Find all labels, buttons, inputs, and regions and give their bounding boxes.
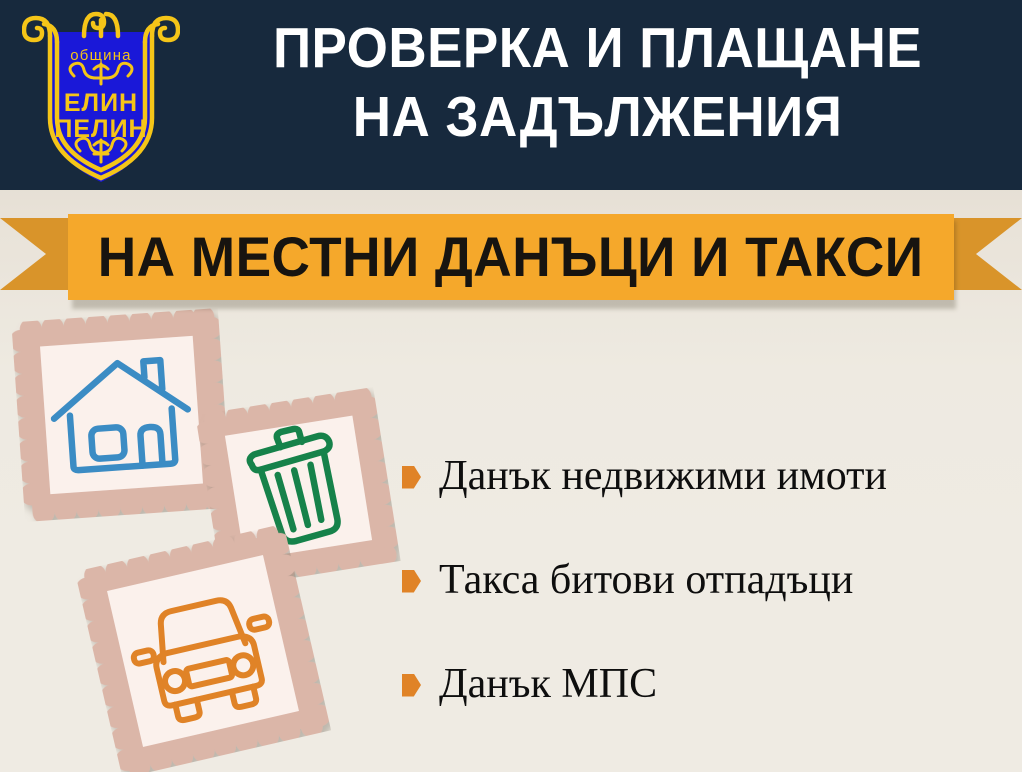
list-item[interactable]: Данък недвижими имоти xyxy=(402,424,1012,528)
list-item-label: Данък недвижими имоти xyxy=(439,453,887,499)
ribbon-main-panel: НА МЕСТНИ ДАНЪЦИ И ТАКСИ xyxy=(68,214,954,300)
page-title-line-1: ПРОВЕРКА И ПЛАЩАНЕ xyxy=(214,14,981,83)
list-item-label: Данък МПС xyxy=(439,661,657,707)
list-item[interactable]: Данък МПС xyxy=(402,632,1012,736)
page-title: ПРОВЕРКА И ПЛАЩАНЕ НА ЗАДЪЛЖЕНИЯ xyxy=(214,14,981,152)
ribbon-label: НА МЕСТНИ ДАНЪЦИ И ТАКСИ xyxy=(98,228,924,286)
list-item[interactable]: Такса битови отпадъци xyxy=(402,528,1012,632)
arrow-bullet-icon xyxy=(402,466,421,489)
poster-root: ПРОВЕРКА И ПЛАЩАНЕ НА ЗАДЪЛЖЕНИЯ xyxy=(0,0,1022,772)
arrow-bullet-icon xyxy=(402,570,421,593)
arrow-bullet-icon xyxy=(402,674,421,697)
logo-word-obshtina: община xyxy=(70,47,131,64)
tax-type-list: Данък недвижими имоти Такса битови отпад… xyxy=(402,424,1012,736)
logo-word-elin: ЕЛИН xyxy=(64,89,138,117)
list-item-label: Такса битови отпадъци xyxy=(439,557,853,603)
municipality-logo: община ЕЛИН ПЕЛИН xyxy=(22,6,180,186)
page-title-line-2: НА ЗАДЪЛЖЕНИЯ xyxy=(214,83,981,152)
ribbon-banner: НА МЕСТНИ ДАНЪЦИ И ТАКСИ xyxy=(0,196,1022,306)
